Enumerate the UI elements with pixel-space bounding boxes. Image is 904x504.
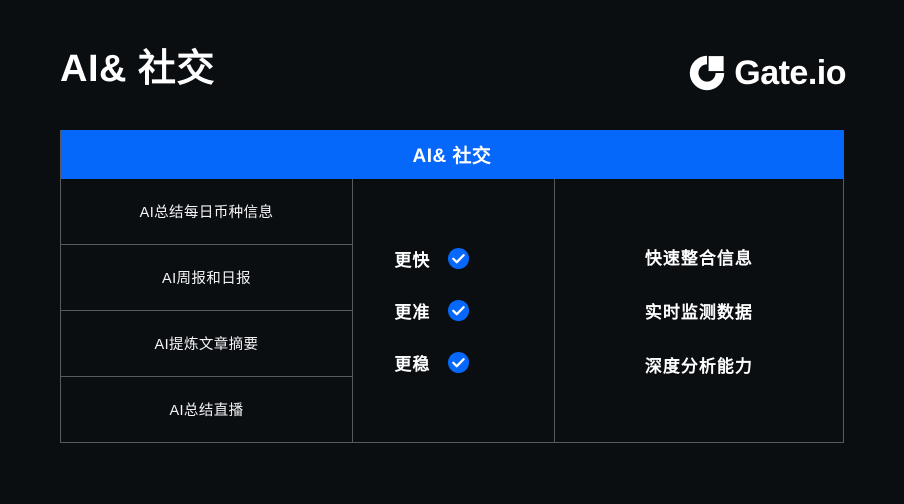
check-circle-icon [447, 299, 470, 322]
outcome-label: 深度分析能力 [645, 352, 753, 377]
gate-circle-logo-icon [689, 55, 725, 91]
list-item: 更准 [395, 298, 513, 323]
outcome-label: 快速整合信息 [645, 244, 753, 269]
benefit-label: 更快 [395, 246, 431, 271]
benefit-label: 更准 [395, 298, 431, 323]
table-row: AI总结直播 [61, 377, 352, 442]
table-row: AI提炼文章摘要 [61, 311, 352, 377]
brand-name: Gate.io [734, 56, 846, 90]
slide: AI& 社交 Gate.io AI& 社交 AI总结每日币种信息 AI周报和日报… [0, 0, 904, 504]
check-circle-icon [447, 247, 470, 270]
table-row: AI总结每日币种信息 [61, 179, 352, 245]
feature-label: AI总结每日币种信息 [140, 201, 274, 222]
table-header-title: AI& 社交 [61, 130, 843, 179]
feature-label: AI周报和日报 [162, 267, 251, 288]
outcomes-column: 快速整合信息 实时监测数据 深度分析能力 [555, 179, 843, 442]
feature-label: AI总结直播 [169, 399, 243, 420]
table-row: AI周报和日报 [61, 245, 352, 311]
brand-logo: Gate.io [689, 55, 846, 91]
check-circle-icon [447, 351, 470, 374]
outcome-label: 实时监测数据 [645, 298, 753, 323]
feature-label: AI提炼文章摘要 [155, 333, 259, 354]
features-column: AI总结每日币种信息 AI周报和日报 AI提炼文章摘要 AI总结直播 [61, 179, 353, 442]
benefits-column: 更快 更准 更稳 [353, 179, 555, 442]
benefit-label: 更稳 [395, 350, 431, 375]
list-item: 更稳 [395, 350, 513, 375]
page-title: AI& 社交 [60, 48, 215, 92]
table-body: AI总结每日币种信息 AI周报和日报 AI提炼文章摘要 AI总结直播 更快 [61, 179, 843, 442]
list-item: 更快 [395, 246, 513, 271]
feature-table: AI& 社交 AI总结每日币种信息 AI周报和日报 AI提炼文章摘要 AI总结直… [60, 130, 844, 443]
